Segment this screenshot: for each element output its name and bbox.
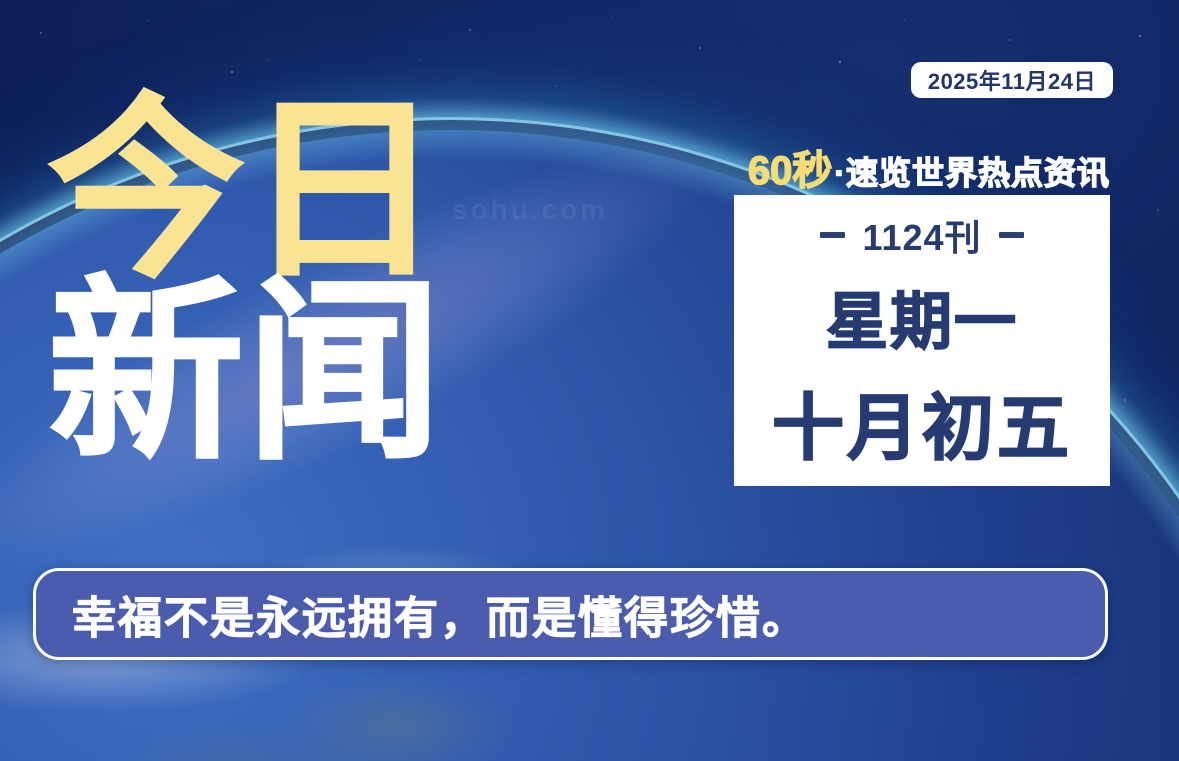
- date-badge-label: 2025年11月24日: [928, 64, 1096, 96]
- tagline-description: ·速览世界热点资讯: [834, 148, 1110, 194]
- dash-right-icon: [999, 232, 1024, 238]
- dash-left-icon: [820, 232, 845, 238]
- news-poster: sohu.com 今日 新闻 2025年11月24日 60秒 ·速览世界热点资讯…: [0, 0, 1179, 761]
- issue-number-label: 1124刊: [862, 209, 981, 261]
- tagline: 60秒 ·速览世界热点资讯: [748, 138, 1110, 196]
- page-title-line-2: 新闻: [48, 278, 444, 468]
- page-title-line-1: 今日: [48, 96, 444, 286]
- lunar-date-label: 十月初五: [772, 369, 1072, 474]
- tagline-duration: 60秒: [748, 138, 833, 196]
- page-title: 今日 新闻: [48, 96, 444, 468]
- quote-text: 幸福不是永远拥有，而是懂得珍惜。: [72, 582, 808, 646]
- date-badge: 2025年11月24日: [911, 62, 1113, 98]
- issue-row: 1124刊: [820, 209, 1023, 261]
- quote-banner: 幸福不是永远拥有，而是懂得珍惜。: [33, 568, 1108, 660]
- issue-info-card: 1124刊 星期一 十月初五: [734, 195, 1110, 486]
- weekday-label: 星期一: [826, 271, 1018, 361]
